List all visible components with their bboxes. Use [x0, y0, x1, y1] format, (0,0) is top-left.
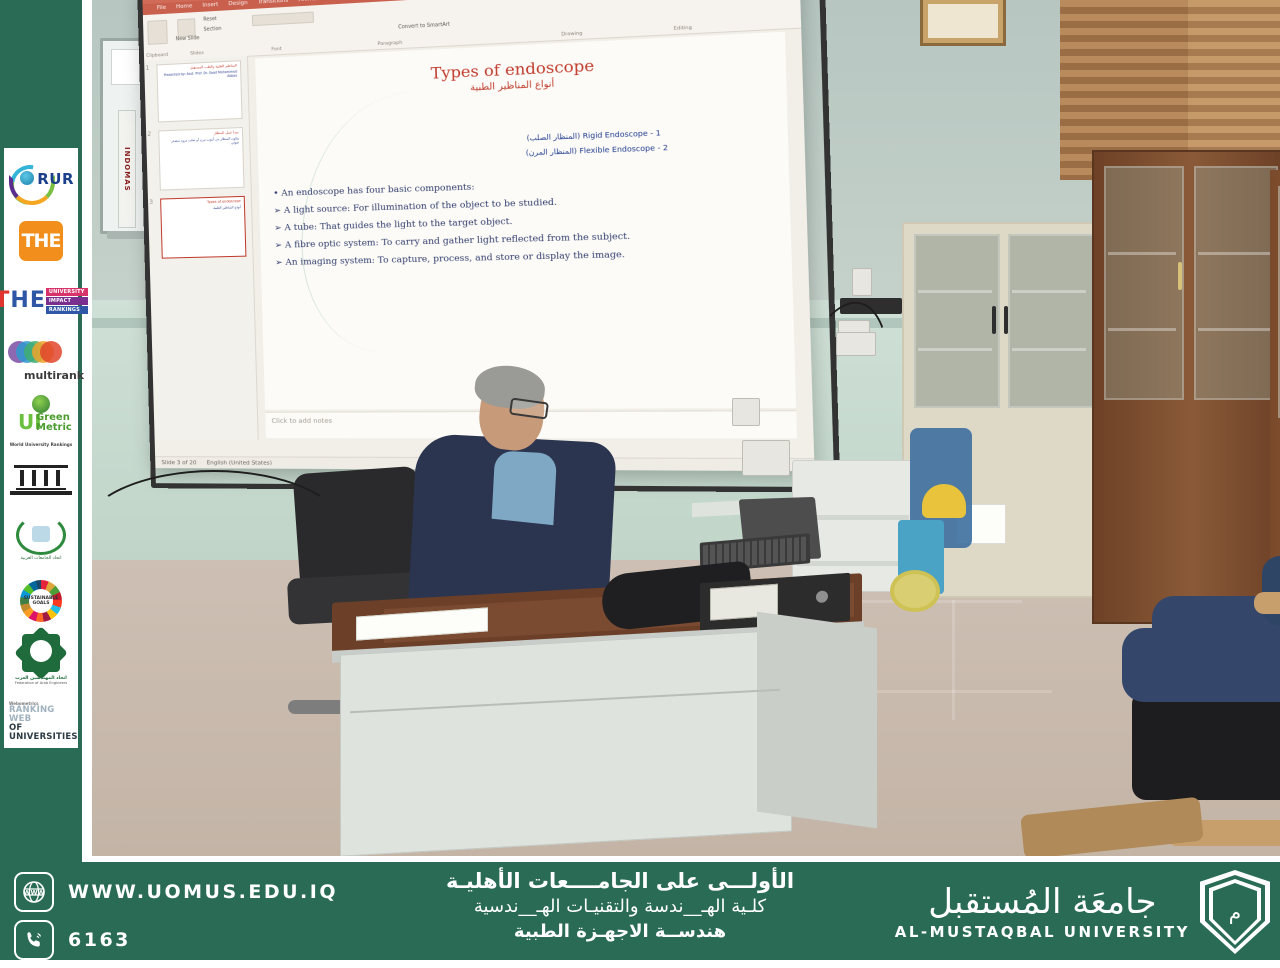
font-name-box[interactable]	[252, 12, 314, 27]
emblem-column-3	[44, 470, 48, 486]
emblem-column-4	[56, 470, 60, 486]
cabinet-shelf-2	[1012, 290, 1086, 293]
crest-symbol: م	[1229, 900, 1241, 924]
ribbon-group-drawing: Drawing	[561, 31, 582, 37]
impact-bar-3: RANKINGS	[46, 306, 88, 314]
cabinet-shelf-3	[918, 348, 992, 351]
wood-cabinet	[1092, 150, 1280, 624]
banner-arabic-line-1: الأولـــى على الجامــــعات الأهليـة	[380, 868, 860, 894]
cabinet-shelf-1	[918, 290, 992, 293]
wreath-icon	[16, 515, 66, 555]
ui-greenmetric-logo: UI Green Metric World University Ranking…	[6, 394, 76, 448]
the-impact-rankings-logo: T H E UNIVERSITY IMPACT RANKINGS	[6, 274, 76, 328]
wood-cabinet-glass-left	[1104, 166, 1184, 400]
rur-label: RUR	[37, 170, 74, 188]
university-name-block: جامعَة المُستقبل AL-MUSTAQBAL UNIVERSITY	[895, 883, 1190, 941]
rur-logo: RUR	[6, 154, 76, 208]
ribbon-group-paragraph: Paragraph	[377, 41, 402, 47]
wall-socket-1	[852, 268, 872, 296]
the-label: THE	[19, 221, 63, 261]
emblem-step	[16, 488, 66, 490]
binder-ring-icon	[816, 590, 828, 603]
webometrics-line-1: RANKING WEB	[9, 706, 76, 724]
cabinet-handle-left[interactable]	[992, 306, 996, 334]
thumbnail-number-3: 3	[149, 199, 153, 206]
sdg-wheel-icon: SUSTAINABLE GOALS	[20, 580, 62, 622]
svg-text:WWW: WWW	[23, 888, 44, 896]
armchair-tablet-desk	[1254, 592, 1280, 614]
website-row[interactable]: WWW WWW.UOMUS.EDU.IQ	[14, 872, 344, 912]
slide-list-item-2: 2 - Flexible Endoscope (المنظار المرن)	[526, 144, 668, 158]
wood-cabinet-right	[1270, 170, 1280, 610]
multirank-logo: multirank	[6, 334, 76, 388]
student-torso	[1262, 556, 1280, 626]
star-center-icon	[30, 640, 52, 662]
phone-text[interactable]: 6163	[68, 929, 131, 951]
clock-face	[928, 4, 998, 38]
slide-thumbnail-3[interactable]: Types of endoscope أنواع المناظير الطبية	[160, 196, 246, 259]
the-impact-e: E	[30, 290, 45, 312]
multirank-circle-5	[40, 341, 62, 363]
the-impact-t: T	[0, 290, 9, 312]
section-label[interactable]: Section	[203, 27, 221, 33]
website-text[interactable]: WWW.UOMUS.EDU.IQ	[68, 881, 338, 903]
tab-file[interactable]: File	[157, 3, 166, 15]
wood-shelf-2	[1198, 252, 1270, 255]
cabinet-handle-right[interactable]	[1004, 306, 1008, 334]
tape-roll	[890, 570, 940, 612]
wood-cabinet-glass-right	[1194, 166, 1278, 400]
phone-row[interactable]: 6163	[14, 920, 344, 960]
the-impact-h: H	[10, 290, 28, 312]
convert-smartart-label[interactable]: Convert to SmartArt	[398, 23, 450, 31]
cabinet-glass-right	[1008, 234, 1094, 408]
thumbnail-number-2: 2	[147, 131, 151, 138]
rankings-rail: RUR THE T H E UNIVERSITY IMPACT RANKINGS	[4, 148, 78, 748]
ribbon-group-font: Font	[271, 47, 281, 53]
indomas-banner: INDOMAS	[118, 110, 136, 228]
cart-shelf-2	[797, 561, 909, 566]
wall-socket-4	[742, 440, 790, 476]
cabinet-glass-left	[914, 234, 1000, 408]
webometrics-logo: Webometrics RANKING WEB OF UNIVERSITIES	[6, 694, 76, 748]
emblem-column-1	[20, 470, 24, 486]
university-crest-icon: م	[1200, 870, 1270, 954]
poster-page: RUR THE T H E UNIVERSITY IMPACT RANKINGS	[0, 0, 1280, 960]
banner-arabic-block: الأولـــى على الجامــــعات الأهليـة كلـي…	[380, 868, 860, 944]
reset-label[interactable]: Reset	[203, 17, 217, 23]
emblem-roof	[14, 465, 68, 468]
arab-universities-logo: اتحاد الجامعات العربية	[6, 514, 76, 568]
impact-bar-2: IMPACT	[46, 297, 88, 305]
wall-socket-5	[732, 398, 760, 426]
wood-cabinet-handle[interactable]	[1178, 262, 1182, 290]
wood-shelf-3	[1108, 328, 1176, 331]
globe-www-icon: WWW	[14, 872, 54, 912]
contact-block: WWW WWW.UOMUS.EDU.IQ 6163	[14, 872, 344, 968]
slide-canvas[interactable]: Types of endoscope أنواع المناظير الطبية…	[255, 32, 796, 410]
greenmetric-label: Green Metric	[36, 413, 72, 433]
university-brand-block: جامعَة المُستقبل AL-MUSTAQBAL UNIVERSITY…	[895, 870, 1270, 954]
phone-icon	[14, 920, 54, 960]
emblem-column-2	[32, 470, 36, 486]
ribbon-group-slides: Slides	[190, 51, 204, 57]
impact-bar-1: UNIVERSITY	[46, 288, 88, 296]
banner-arabic-line-3: هندســة الاجهـزة الطبية	[380, 919, 860, 944]
desk-front-panel	[340, 629, 792, 856]
university-name-english: AL-MUSTAQBAL UNIVERSITY	[895, 923, 1190, 941]
sdg-label: SUSTAINABLE GOALS	[29, 589, 53, 613]
greenmetric-footer: World University Rankings	[6, 442, 76, 447]
wreath-center-icon	[32, 526, 50, 542]
sdg-wheel-logo: SUSTAINABLE GOALS	[6, 574, 76, 628]
paste-icon[interactable]	[147, 20, 168, 45]
wall-clock	[920, 0, 1006, 46]
projection-screen: Types of endoscope - PowerPoint File Hom…	[140, 0, 814, 471]
new-slide-label[interactable]: New Slide	[176, 36, 200, 42]
wood-shelf-4	[1198, 328, 1270, 331]
floor-cable-1	[92, 470, 346, 594]
emblem-base	[10, 491, 72, 495]
slide-body: • An endoscope has four basic components…	[273, 171, 775, 274]
cabinet-shelf-4	[1012, 348, 1086, 351]
slide-thumbnail-panel[interactable]: 1 المناظير الطبية والطب المستقبل Present…	[142, 56, 258, 440]
new-slide-icon[interactable]	[177, 18, 196, 37]
greenmetric-word-2: Metric	[36, 422, 72, 433]
ribbon-group-clipboard: Clipboard	[146, 53, 168, 59]
classroom-photo: INDOMAS عرض علمي أنواع المناظير تحذير ال…	[92, 0, 1280, 856]
slide-list-item-1: 1 - Rigid Endoscope (المنظار الصلب)	[526, 129, 660, 143]
webometrics-line-2: OF UNIVERSITIES	[9, 724, 76, 742]
multirank-label: multirank	[24, 369, 84, 382]
wood-shelf-1	[1108, 252, 1176, 255]
columns-emblem-logo	[6, 454, 76, 508]
floor-seam-3	[952, 600, 955, 720]
slide-thumbnail-2[interactable]: مبدأ عمل المنظار يتكون المنظار من أنبوب …	[158, 127, 244, 191]
federation-label-en: Federation of Arab Engineers	[8, 681, 74, 685]
bottom-banner: WWW WWW.UOMUS.EDU.IQ 6163 الأولـــى على …	[0, 862, 1280, 960]
student-bag	[1132, 690, 1280, 800]
the-logo: THE	[6, 214, 76, 268]
banner-arabic-line-2: كلـية الهـ__ندسة والتقنيـات الهـ__ندسية	[380, 894, 860, 919]
federation-arab-engineers-logo: اتحاد المهندسين العرب Federation of Arab…	[6, 634, 76, 688]
university-name-arabic: جامعَة المُستقبل	[895, 883, 1190, 921]
desk-side-panel	[757, 612, 877, 829]
slide-thumbnail-1[interactable]: المناظير الطبية والطب المستقبل Presented…	[156, 60, 242, 122]
status-slide-number: Slide 3 of 20	[161, 460, 196, 466]
globe-icon	[20, 171, 34, 185]
ribbon-group-editing: Editing	[674, 26, 692, 32]
arab-universities-label: اتحاد الجامعات العربية	[8, 556, 74, 561]
thumbnail-number-1: 1	[145, 65, 149, 72]
status-language[interactable]: English (United States)	[207, 460, 273, 466]
